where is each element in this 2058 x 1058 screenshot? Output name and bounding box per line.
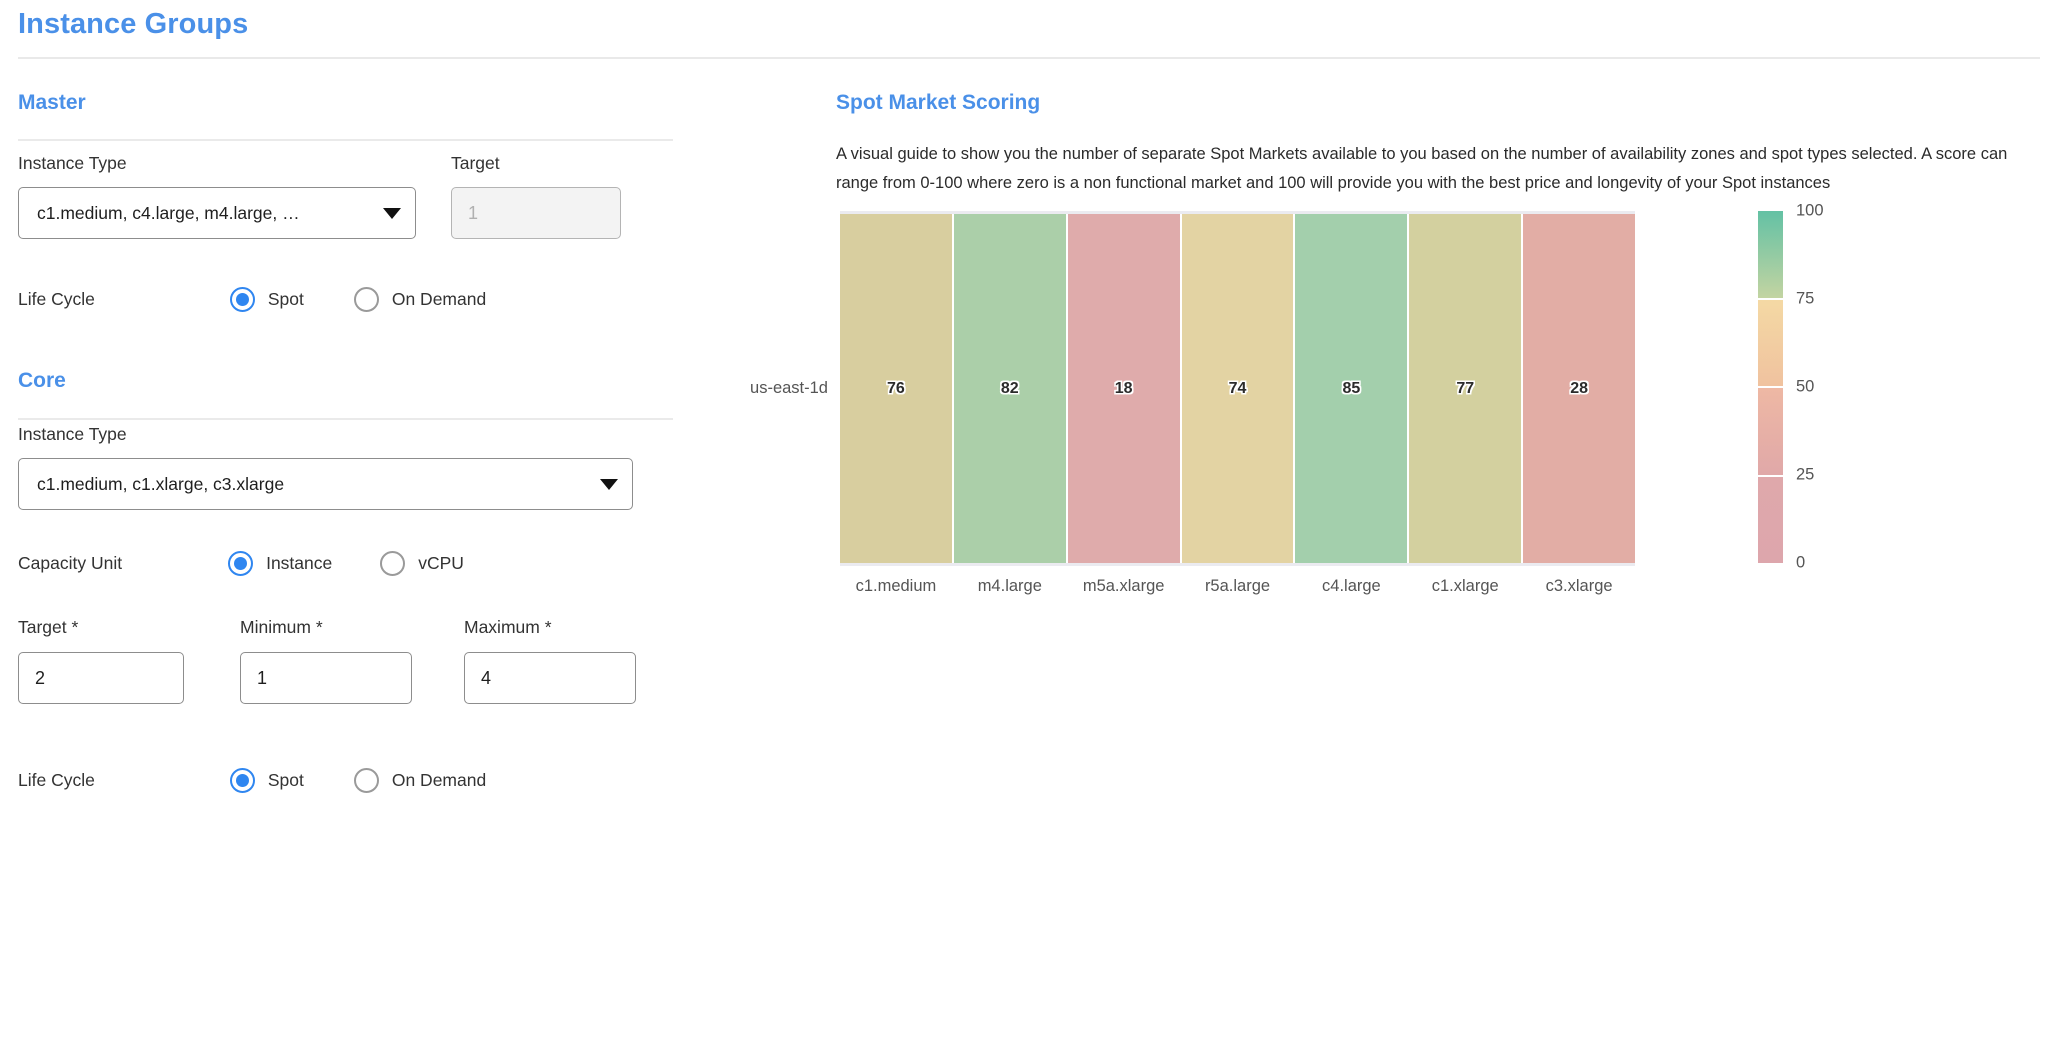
spot-market-scoring-description: A visual guide to show you the number of… — [836, 140, 2014, 198]
heatmap-cell[interactable]: 82 — [954, 214, 1066, 563]
core-minimum-label: Minimum * — [240, 617, 323, 638]
chevron-down-icon — [600, 479, 618, 490]
page-title: Instance Groups — [18, 8, 248, 41]
colorbar-gradient — [1758, 211, 1783, 563]
radio-selected-icon — [230, 287, 255, 312]
heatmap-x-tick-label: c1.xlarge — [1409, 577, 1521, 596]
heatmap-x-tick-label: c3.xlarge — [1523, 577, 1635, 596]
heatmap-plot-area: 76821874857728 — [840, 211, 1635, 566]
heatmap-cell[interactable]: 18 — [1068, 214, 1180, 563]
colorbar-tick: 25 — [1796, 466, 1814, 485]
colorbar-segment — [1758, 300, 1783, 387]
heatmap-cell-value: 18 — [1115, 380, 1133, 398]
radio-unselected-icon — [354, 768, 379, 793]
core-capacity-unit-instance-radio[interactable]: Instance — [228, 551, 332, 576]
master-instance-type-value: c1.medium, c4.large, m4.large, … — [37, 203, 373, 224]
spot-market-heatmap: us-east-1d 76821874857728 c1.mediumm4.la… — [690, 195, 2058, 715]
heatmap-cell-value: 74 — [1229, 380, 1247, 398]
master-instance-type-label: Instance Type — [18, 153, 127, 174]
core-life-cycle-on-demand-label: On Demand — [392, 770, 486, 791]
core-life-cycle-group: Life Cycle Spot On Demand — [18, 768, 486, 793]
heatmap-cell[interactable]: 74 — [1182, 214, 1294, 563]
master-life-cycle-on-demand-label: On Demand — [392, 289, 486, 310]
radio-unselected-icon — [380, 551, 405, 576]
heatmap-cell-value: 82 — [1001, 380, 1019, 398]
master-target-input[interactable]: 1 — [451, 187, 621, 239]
heatmap-cell-value: 85 — [1342, 380, 1360, 398]
spot-market-scoring-panel: Spot Market Scoring A visual guide to sh… — [690, 75, 2058, 1058]
heatmap-x-tick-label: m5a.xlarge — [1068, 577, 1180, 596]
core-target-label: Target * — [18, 617, 78, 638]
core-maximum-label: Maximum * — [464, 617, 552, 638]
core-life-cycle-on-demand-radio[interactable]: On Demand — [354, 768, 486, 793]
core-life-cycle-spot-radio[interactable]: Spot — [230, 768, 304, 793]
core-capacity-unit-label: Capacity Unit — [18, 553, 122, 574]
colorbar-segment — [1758, 477, 1783, 564]
core-capacity-unit-group: Capacity Unit Instance vCPU — [18, 551, 464, 576]
colorbar-tick-labels: 1007550250 — [1796, 211, 1866, 563]
colorbar-tick: 75 — [1796, 290, 1814, 309]
master-target-label: Target — [451, 153, 500, 174]
heatmap-x-tick-label: c4.large — [1295, 577, 1407, 596]
master-life-cycle-spot-radio[interactable]: Spot — [230, 287, 304, 312]
radio-unselected-icon — [354, 287, 379, 312]
master-life-cycle-group: Life Cycle Spot On Demand — [18, 287, 486, 312]
heatmap-cell-value: 28 — [1570, 380, 1588, 398]
colorbar-tick: 0 — [1796, 554, 1805, 573]
core-minimum-input[interactable]: 1 — [240, 652, 412, 704]
heatmap-x-tick-label: c1.medium — [840, 577, 952, 596]
master-life-cycle-spot-label: Spot — [268, 289, 304, 310]
radio-selected-icon — [228, 551, 253, 576]
core-capacity-unit-vcpu-radio[interactable]: vCPU — [380, 551, 464, 576]
heatmap-cell-value: 77 — [1456, 380, 1474, 398]
instance-groups-form: Master Instance Type c1.medium, c4.large… — [0, 75, 690, 1058]
colorbar-segment — [1758, 388, 1783, 475]
core-instance-type-value: c1.medium, c1.xlarge, c3.xlarge — [37, 474, 590, 495]
colorbar-segment — [1758, 211, 1783, 298]
core-capacity-unit-vcpu-label: vCPU — [418, 553, 464, 574]
heatmap-row-label: us-east-1d — [690, 211, 828, 566]
master-life-cycle-label: Life Cycle — [18, 289, 95, 310]
master-instance-type-select[interactable]: c1.medium, c4.large, m4.large, … — [18, 187, 416, 239]
colorbar-tick: 50 — [1796, 378, 1814, 397]
heatmap-cell[interactable]: 85 — [1295, 214, 1407, 563]
core-section-divider — [18, 418, 673, 420]
spot-market-scoring-heading: Spot Market Scoring — [836, 91, 1040, 115]
radio-selected-icon — [230, 768, 255, 793]
core-section-heading: Core — [18, 369, 66, 393]
heatmap-colorbar: 1007550250 — [1758, 211, 1878, 571]
heatmap-cells: 76821874857728 — [840, 214, 1635, 563]
heatmap-x-tick-label: m4.large — [954, 577, 1066, 596]
heatmap-x-tick-label: r5a.large — [1182, 577, 1294, 596]
colorbar-tick: 100 — [1796, 202, 1824, 221]
core-capacity-unit-instance-label: Instance — [266, 553, 332, 574]
master-section-divider — [18, 139, 673, 141]
core-maximum-input[interactable]: 4 — [464, 652, 636, 704]
core-instance-type-select[interactable]: c1.medium, c1.xlarge, c3.xlarge — [18, 458, 633, 510]
core-target-input[interactable]: 2 — [18, 652, 184, 704]
master-life-cycle-on-demand-radio[interactable]: On Demand — [354, 287, 486, 312]
heatmap-cell[interactable]: 77 — [1409, 214, 1521, 563]
heatmap-x-axis-ticks: c1.mediumm4.largem5a.xlarger5a.largec4.l… — [840, 577, 1635, 596]
core-life-cycle-spot-label: Spot — [268, 770, 304, 791]
core-instance-type-label: Instance Type — [18, 424, 127, 445]
title-divider — [18, 57, 2040, 59]
core-life-cycle-label: Life Cycle — [18, 770, 95, 791]
heatmap-cell[interactable]: 76 — [840, 214, 952, 563]
master-section-heading: Master — [18, 91, 86, 115]
chevron-down-icon — [383, 208, 401, 219]
heatmap-cell[interactable]: 28 — [1523, 214, 1635, 563]
heatmap-cell-value: 76 — [887, 380, 905, 398]
